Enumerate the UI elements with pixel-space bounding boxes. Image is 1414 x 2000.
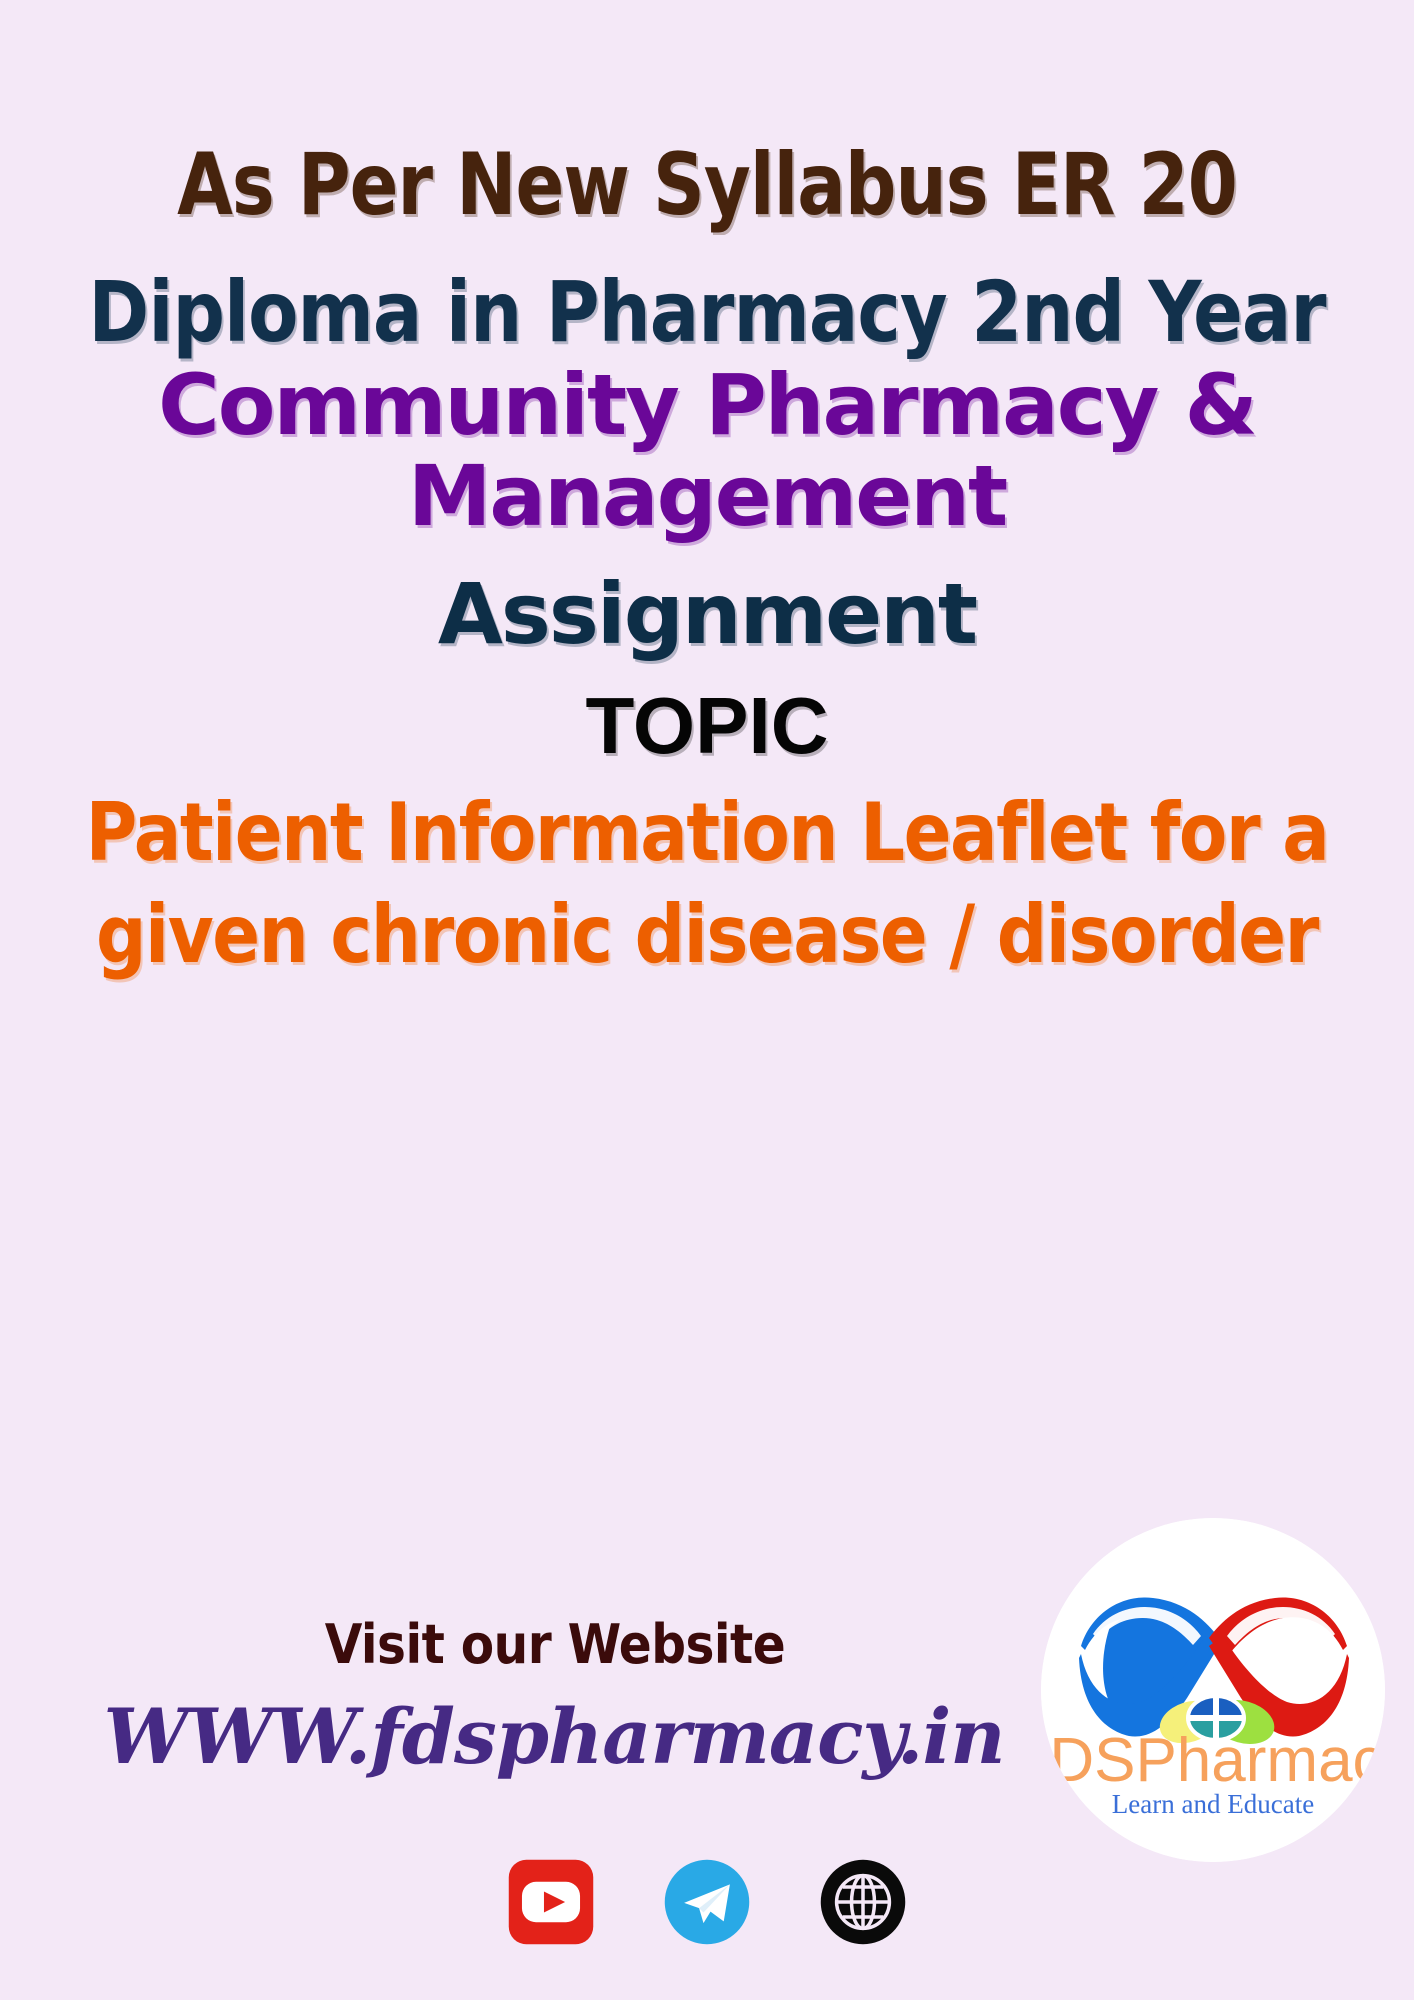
logo-brand-part2: Pharmacy: [1135, 1726, 1385, 1795]
assignment-heading: Assignment: [0, 572, 1414, 656]
telegram-icon[interactable]: [663, 1858, 751, 1946]
website-globe-icon[interactable]: [819, 1858, 907, 1946]
youtube-icon[interactable]: [507, 1858, 595, 1946]
course-heading: Diploma in Pharmacy 2nd Year: [21, 270, 1393, 354]
subject-heading: Community Pharmacy & Management: [0, 360, 1414, 541]
visit-website-label: Visit our Website: [0, 1613, 1110, 1676]
syllabus-heading: As Per New Syllabus ER 20: [49, 142, 1364, 228]
fdspharmacy-logo[interactable]: FDSPharmacy Learn and Educate: [1041, 1518, 1385, 1862]
logo-tagline: Learn and Educate: [1112, 1789, 1314, 1819]
social-links-row: [0, 1858, 1414, 1946]
svg-text:FDSPharmacy: FDSPharmacy: [1041, 1726, 1385, 1795]
logo-brand-part1: FDS: [1041, 1726, 1135, 1795]
topic-title: Patient Information Leaflet for a given …: [14, 782, 1400, 987]
topic-label: TOPIC: [0, 686, 1414, 766]
poster-canvas: As Per New Syllabus ER 20 Diploma in Pha…: [0, 0, 1414, 2000]
website-url[interactable]: WWW.fdspharmacy.in: [0, 1692, 1108, 1781]
